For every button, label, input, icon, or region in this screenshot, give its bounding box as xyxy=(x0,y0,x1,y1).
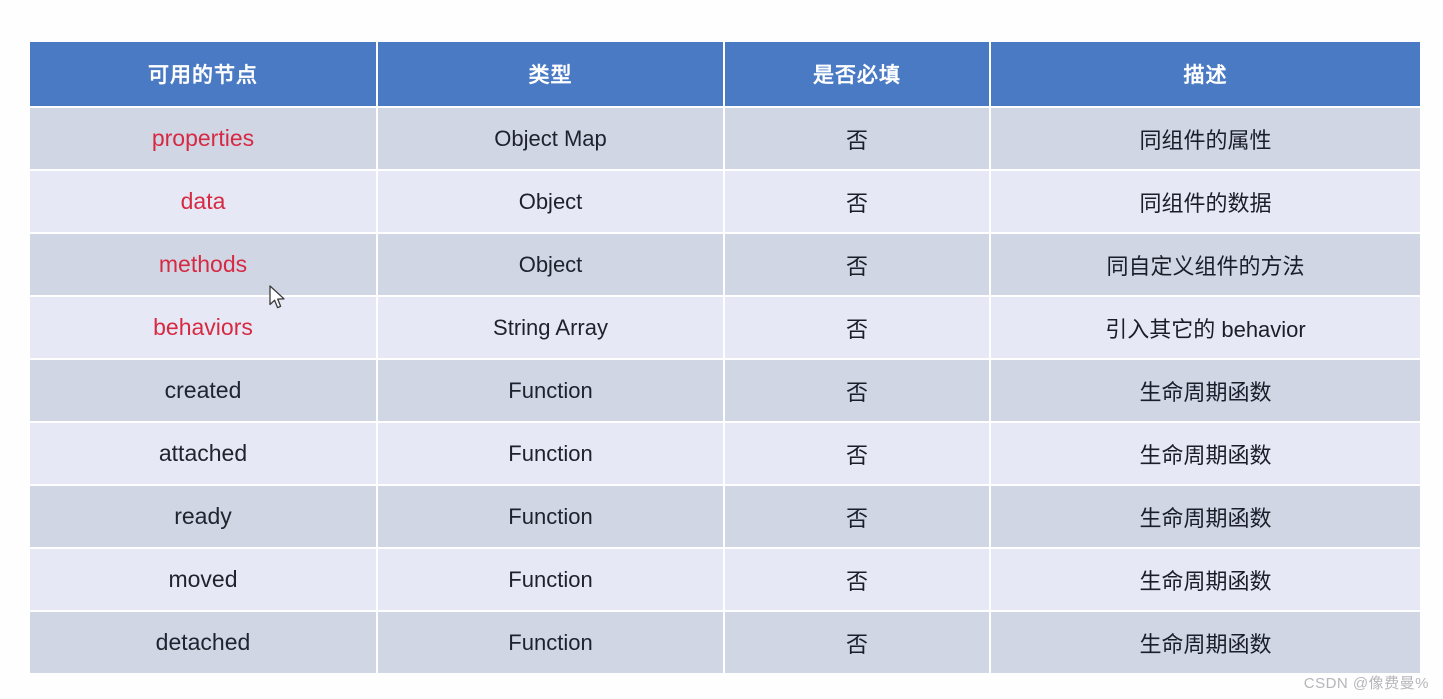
table-row: readyFunction否生命周期函数 xyxy=(30,486,1420,547)
watermark: CSDN @像费曼% xyxy=(1304,672,1429,693)
table-row: propertiesObject Map否同组件的属性 xyxy=(30,108,1420,169)
cell-description: 同组件的属性 xyxy=(991,108,1420,169)
table-row: methodsObject否同自定义组件的方法 xyxy=(30,234,1420,295)
cell-type: Function xyxy=(378,423,723,484)
cell-required: 否 xyxy=(725,486,989,547)
cell-type: Object xyxy=(378,234,723,295)
column-header-required: 是否必填 xyxy=(725,42,989,106)
cell-node-name: moved xyxy=(30,549,376,610)
cell-description: 生命周期函数 xyxy=(991,486,1420,547)
cell-node-name: ready xyxy=(30,486,376,547)
column-header-description: 描述 xyxy=(991,42,1420,106)
cell-type: Object Map xyxy=(378,108,723,169)
cell-required: 否 xyxy=(725,171,989,232)
cell-type: Function xyxy=(378,612,723,673)
cell-description: 生命周期函数 xyxy=(991,549,1420,610)
cell-description: 生命周期函数 xyxy=(991,360,1420,421)
cell-type: String Array xyxy=(378,297,723,358)
table-row: detachedFunction否生命周期函数 xyxy=(30,612,1420,673)
table-row: attachedFunction否生命周期函数 xyxy=(30,423,1420,484)
cell-node-name: created xyxy=(30,360,376,421)
cell-required: 否 xyxy=(725,549,989,610)
cell-type: Function xyxy=(378,549,723,610)
cell-node-name: attached xyxy=(30,423,376,484)
cell-description: 引入其它的 behavior xyxy=(991,297,1420,358)
column-header-type: 类型 xyxy=(378,42,723,106)
cell-description: 同自定义组件的方法 xyxy=(991,234,1420,295)
table-header: 可用的节点 类型 是否必填 描述 xyxy=(30,42,1420,106)
cell-description: 同组件的数据 xyxy=(991,171,1420,232)
component-node-table: 可用的节点 类型 是否必填 描述 propertiesObject Map否同组… xyxy=(28,40,1422,675)
cell-node-name: detached xyxy=(30,612,376,673)
cell-node-name: properties xyxy=(30,108,376,169)
table-body: propertiesObject Map否同组件的属性dataObject否同组… xyxy=(30,108,1420,673)
cell-type: Function xyxy=(378,360,723,421)
column-header-node: 可用的节点 xyxy=(30,42,376,106)
cell-description: 生命周期函数 xyxy=(991,612,1420,673)
cell-node-name: methods xyxy=(30,234,376,295)
table-header-row: 可用的节点 类型 是否必填 描述 xyxy=(30,42,1420,106)
table-row: movedFunction否生命周期函数 xyxy=(30,549,1420,610)
cell-type: Function xyxy=(378,486,723,547)
spec-table-container: 可用的节点 类型 是否必填 描述 propertiesObject Map否同组… xyxy=(28,40,1412,671)
page-canvas: 可用的节点 类型 是否必填 描述 propertiesObject Map否同组… xyxy=(0,0,1443,699)
cell-node-name: behaviors xyxy=(30,297,376,358)
cell-required: 否 xyxy=(725,423,989,484)
table-row: dataObject否同组件的数据 xyxy=(30,171,1420,232)
cell-required: 否 xyxy=(725,360,989,421)
cell-required: 否 xyxy=(725,234,989,295)
cell-required: 否 xyxy=(725,108,989,169)
table-row: behaviorsString Array否引入其它的 behavior xyxy=(30,297,1420,358)
cell-description: 生命周期函数 xyxy=(991,423,1420,484)
table-row: createdFunction否生命周期函数 xyxy=(30,360,1420,421)
cell-required: 否 xyxy=(725,612,989,673)
cell-type: Object xyxy=(378,171,723,232)
cell-required: 否 xyxy=(725,297,989,358)
cell-node-name: data xyxy=(30,171,376,232)
